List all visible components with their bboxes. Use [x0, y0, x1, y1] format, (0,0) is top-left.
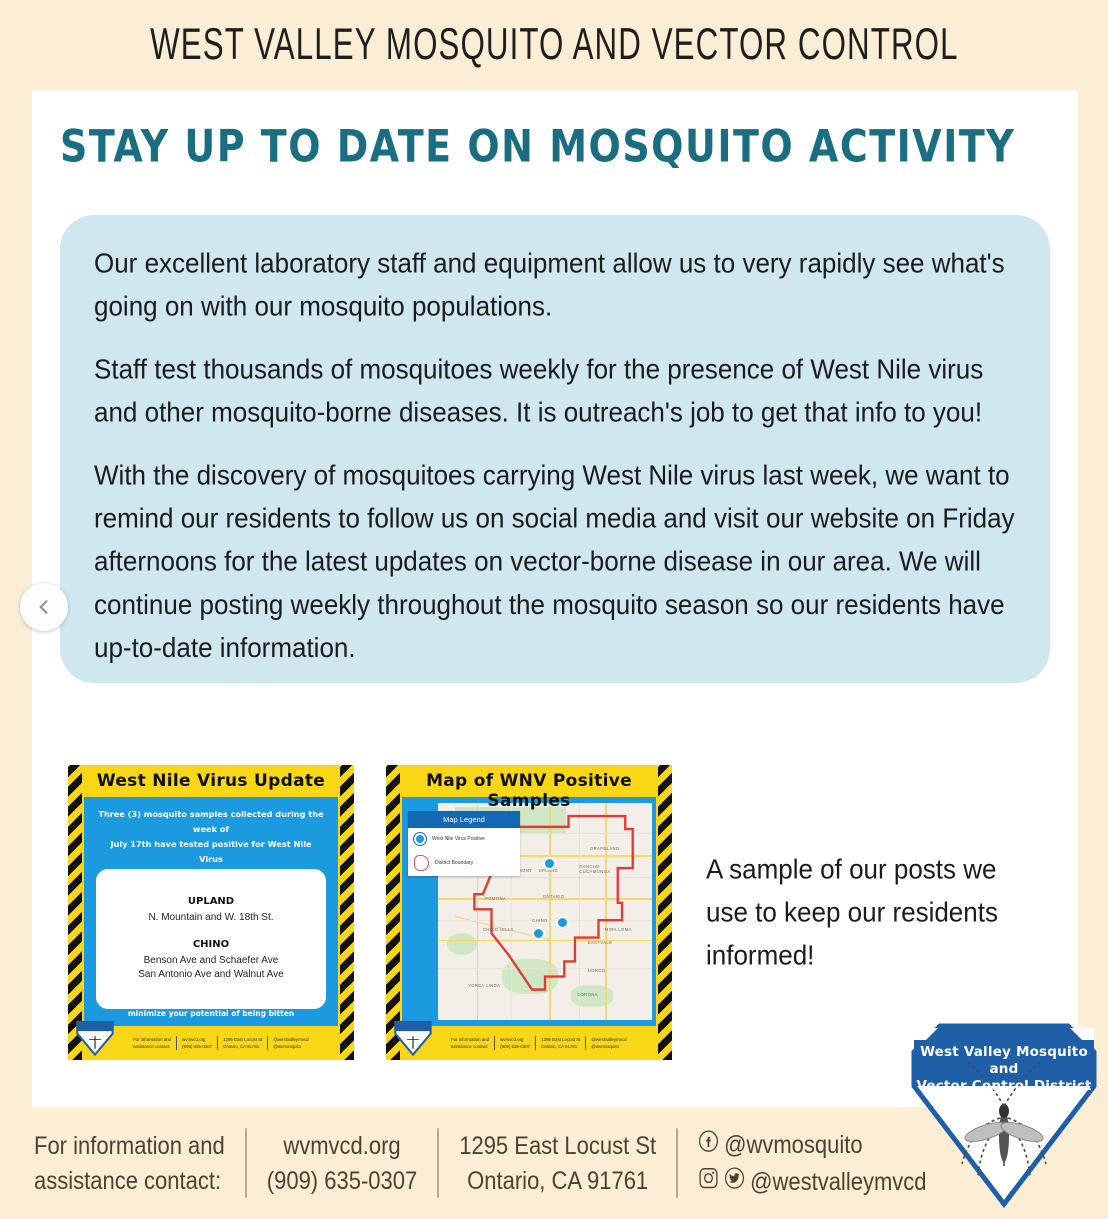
flyer2-strip-web-l1: wvmvcd.org	[500, 1036, 530, 1043]
flyer1-advice: Wear a repellent when outdoors to minimi…	[94, 996, 328, 1020]
info-panel: Our excellent laboratory staff and equip…	[60, 215, 1050, 683]
logo-name-line2: and	[906, 1061, 1102, 1078]
content-card: STAY UP TO DATE ON MOSQUITO ACTIVITY Our…	[32, 90, 1078, 1107]
map-pin-positive-sample[interactable]	[556, 916, 569, 929]
flyer2-title: Map of WNV Positive Samples	[402, 771, 656, 811]
flyer2-strip-contact-l2: assistance contact:	[451, 1043, 489, 1050]
map-legend-title: Map Legend	[408, 811, 520, 828]
footer-social-instagram-twitter[interactable]: @westvalleymvcd	[698, 1164, 926, 1199]
flyer2-strip-address: 1295 East Locust St Ontario, CA 91761	[536, 1036, 586, 1050]
flyer1-address-2a: Benson Ave and Schaefer Ave	[96, 954, 326, 968]
footer-contact-line1: For information and	[34, 1128, 225, 1163]
flyer1-advice-line1: Wear a repellent when outdoors to	[94, 996, 328, 1008]
footer-contact-label: For information and assistance contact:	[34, 1128, 247, 1197]
footer-social-facebook[interactable]: @wvmosquito	[698, 1127, 926, 1162]
flyer1-lead-line2: July 17th have tested positive for West …	[98, 837, 324, 867]
footer-address: 1295 East Locust St Ontario, CA 91761	[439, 1128, 678, 1197]
flyer1-strip-social: @westvalleymvcd @wvmosquito	[268, 1036, 313, 1050]
twitter-icon[interactable]	[724, 1164, 745, 1199]
flyer1-strip-web-l1: wvmvcd.org	[182, 1036, 212, 1043]
flyer1-strip-web-l2: (909) 635-0307	[182, 1043, 212, 1050]
flyer1-strip-contact-l2: assistance contact:	[133, 1043, 171, 1050]
facebook-handle[interactable]: @wvmosquito	[724, 1127, 863, 1162]
map-legend: Map Legend West Nile Virus Positive Dist…	[408, 811, 520, 876]
flyer2-strip-social: @westvalleymvcd @wvmosquito	[586, 1036, 631, 1050]
footer-phone[interactable]: (909) 635-0307	[267, 1163, 417, 1198]
flyer-wnv-update[interactable]: West Nile Virus Update Three (3) mosquit…	[68, 765, 354, 1060]
facebook-icon[interactable]	[698, 1127, 719, 1162]
map-legend-item-positive: West Nile Virus Positive	[408, 828, 520, 850]
flyer1-strip-address: 1295 East Locust St Ontario, CA 91761	[218, 1036, 268, 1050]
flyer2-strip-web-l2: (909) 635-0307	[500, 1043, 530, 1050]
flyer2-strip-social-l2: @wvmosquito	[591, 1043, 626, 1050]
logo-name: West Valley Mosquito and Vector Control …	[906, 1044, 1102, 1095]
posts-caption: A sample of our posts we use to keep our…	[706, 847, 1006, 977]
flyer1-lead: Three (3) mosquito samples collected dur…	[84, 797, 338, 867]
flyer1-city-2: CHINO	[96, 939, 326, 950]
flyer2-strip-social-l1: @westvalleymvcd	[591, 1036, 626, 1043]
map-legend-item-boundary: District Boundary	[408, 850, 520, 876]
info-paragraph-3: With the discovery of mosquitoes carryin…	[94, 453, 1016, 669]
instagram-twitter-handle[interactable]: @westvalleymvcd	[750, 1164, 926, 1199]
flyer2-strip-addr-l1: 1295 East Locust St	[541, 1036, 580, 1043]
flyer1-body: Three (3) mosquito samples collected dur…	[84, 797, 338, 1026]
flyer1-city-1: UPLAND	[96, 896, 326, 907]
flyer2-strip-web: wvmvcd.org (909) 635-0307	[495, 1036, 536, 1050]
page-headline: STAY UP TO DATE ON MOSQUITO ACTIVITY	[60, 120, 1078, 172]
logo-tagline: Protecting Public Health	[906, 1031, 1102, 1041]
legend-pin-icon	[414, 833, 426, 845]
flyer-wnv-map[interactable]: Map of WNV Positive Samples	[386, 765, 672, 1060]
flyer2-district-logo-icon	[392, 1016, 434, 1058]
legend-label-boundary: District Boundary	[435, 860, 473, 866]
flyer2-strip-contact: For information and assistance contact:	[446, 1036, 495, 1050]
flyer1-lead-line1: Three (3) mosquito samples collected dur…	[98, 807, 324, 837]
flyer1-district-logo-icon	[74, 1016, 116, 1058]
flyer1-strip-addr-l2: Ontario, CA 91761	[223, 1043, 262, 1050]
flyer2-strip-contact-l1: For information and	[451, 1036, 489, 1043]
flyer1-strip-contact: For information and assistance contact:	[128, 1036, 177, 1050]
footer-web-phone[interactable]: wvmvcd.org (909) 635-0307	[247, 1128, 439, 1197]
flyer1-strip-addr-l1: 1295 East Locust St	[223, 1036, 262, 1043]
logo-name-line1: West Valley Mosquito	[906, 1044, 1102, 1061]
footer-address-line2: Ontario, CA 91761	[459, 1163, 656, 1198]
instagram-icon[interactable]	[698, 1164, 719, 1199]
footer-address-line1: 1295 East Locust St	[459, 1128, 656, 1163]
flyer1-contact-strip: For information and assistance contact: …	[84, 1028, 338, 1058]
logo-name-line3: Vector Control District	[906, 1078, 1102, 1095]
legend-boundary-icon	[414, 855, 429, 871]
info-paragraph-1: Our excellent laboratory staff and equip…	[94, 241, 1016, 327]
footer-inner: For information and assistance contact: …	[34, 1131, 947, 1195]
flyer2-map-body: CLAREMONT UPLAND RANCHOCUCAMONGA GRAPELA…	[402, 797, 656, 1026]
flyer1-strip-social-l1: @westvalleymvcd	[273, 1036, 308, 1043]
info-paragraph-2: Staff test thousands of mosquitoes weekl…	[94, 347, 1016, 433]
flyer1-strip-web: wvmvcd.org (909) 635-0307	[177, 1036, 218, 1050]
flyer1-address-1a: N. Mountain and W. 18th St.	[96, 911, 326, 925]
organization-title: WEST VALLEY MOSQUITO AND VECTOR CONTROL	[150, 20, 958, 71]
map-pin-positive-sample[interactable]	[532, 927, 545, 940]
chevron-left-icon	[34, 597, 54, 617]
footer-website[interactable]: wvmvcd.org	[267, 1128, 417, 1163]
flyer1-locations-box: UPLAND N. Mountain and W. 18th St. CHINO…	[96, 869, 326, 1009]
top-banner: WEST VALLEY MOSQUITO AND VECTOR CONTROL	[0, 0, 1108, 90]
legend-label-positive: West Nile Virus Positive	[432, 836, 485, 842]
flyer1-advice-line2: minimize your potential of being bitten	[94, 1008, 328, 1020]
hazard-stripe-right-icon	[340, 765, 354, 1060]
footer-contact-line2: assistance contact:	[34, 1163, 225, 1198]
flyer1-spacer	[96, 925, 326, 939]
flyer2-strip-addr-l2: Ontario, CA 91761	[541, 1043, 580, 1050]
flyer1-strip-contact-l1: For information and	[133, 1036, 171, 1043]
flyer1-address-2b: San Antonio Ave and Walnut Ave	[96, 968, 326, 982]
carousel-prev-button[interactable]	[20, 583, 68, 631]
flyer2-contact-strip: For information and assistance contact: …	[402, 1028, 656, 1058]
district-logo: Protecting Public Health West Valley Mos…	[906, 1014, 1102, 1214]
hazard-stripe-right-icon	[658, 765, 672, 1060]
flyer1-strip-social-l2: @wvmosquito	[273, 1043, 308, 1050]
flyer1-title: West Nile Virus Update	[84, 771, 338, 791]
